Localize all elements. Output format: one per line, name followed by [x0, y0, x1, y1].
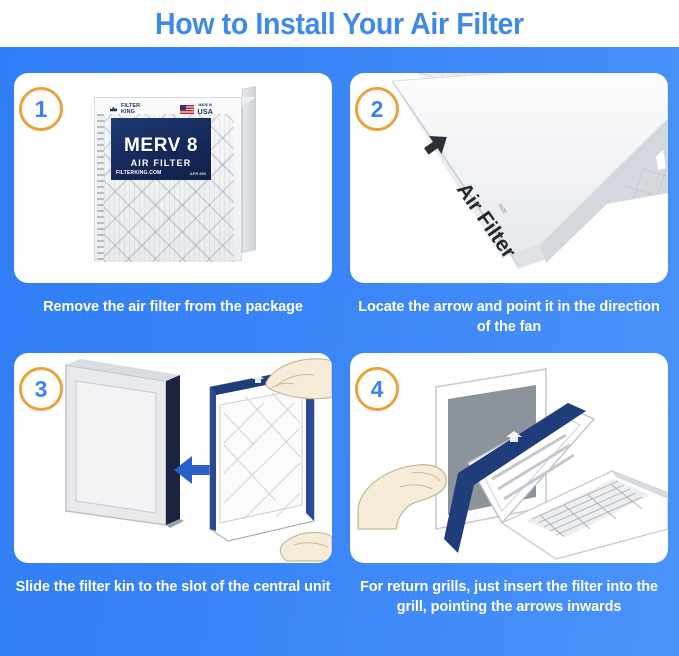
title-band: How to Install Your Air Filter: [0, 0, 679, 47]
usa-flag-icon: [180, 105, 194, 114]
filter-label-footer: FILTERKING.COM APR 850: [116, 170, 206, 176]
filter-product-label: MERV 8 AIR FILTER FILTERKING.COM APR 850: [111, 118, 211, 180]
step-1-caption: Remove the air filter from the package: [14, 297, 332, 317]
filter-brand-row: FILTER KING MADE IN USA: [109, 103, 213, 116]
step-3-caption: Slide the filter kin to the slot of the …: [14, 577, 332, 597]
filter-frame: [392, 73, 668, 269]
page-title: How to Install Your Air Filter: [155, 6, 524, 42]
made-in-usa-mark: MADE IN USA: [197, 104, 213, 115]
hand-gripping: [358, 465, 446, 529]
step-3-number-badge: 3: [19, 367, 63, 411]
filter-pleat-edge: [97, 114, 104, 262]
air-filter-product: FILTER KING MADE IN USA MERV 8: [94, 89, 256, 261]
step-number: 2: [371, 96, 384, 123]
filter-front-face: FILTER KING MADE IN USA MERV 8: [94, 97, 242, 261]
step-1-number-badge: 1: [19, 87, 63, 131]
central-unit-housing: [66, 359, 184, 528]
filter-brand-name: FILTER KING: [121, 104, 140, 115]
hand-lower: [280, 532, 332, 561]
step-number: 3: [35, 376, 48, 403]
filter-side-face: [242, 86, 256, 253]
step-4-caption: For return grills, just insert the filte…: [350, 577, 668, 617]
crown-king-icon: [109, 105, 118, 114]
step-number: 4: [371, 376, 384, 403]
step-4-number-badge: 4: [355, 367, 399, 411]
step-2-number-badge: 2: [355, 87, 399, 131]
step-number: 1: [35, 96, 48, 123]
step-2-caption: Locate the arrow and point it in the dir…: [350, 297, 668, 337]
steps-grid: FILTER KING MADE IN USA MERV 8: [0, 47, 679, 656]
